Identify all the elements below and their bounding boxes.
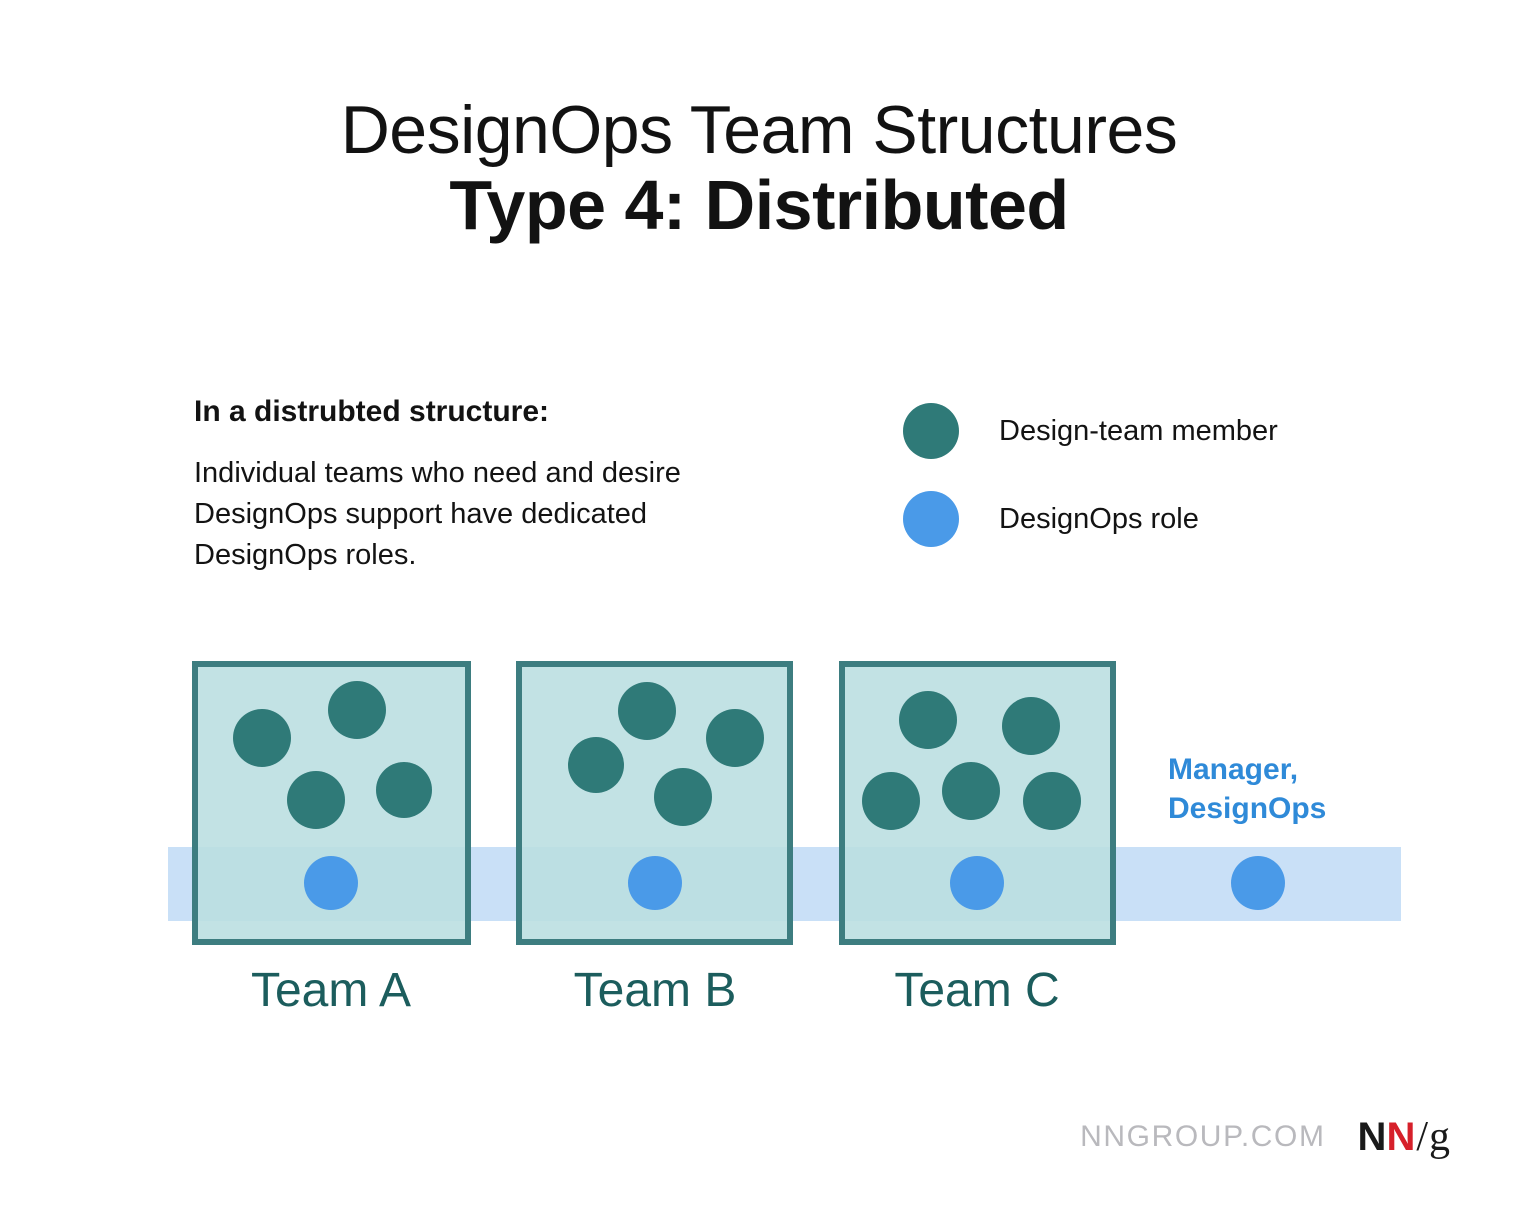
logo-slash: / bbox=[1416, 1116, 1428, 1158]
logo-n-black: N bbox=[1358, 1117, 1387, 1157]
circle-icon bbox=[903, 403, 959, 459]
legend-label: Design-team member bbox=[999, 415, 1278, 448]
design-team-member-dot bbox=[287, 771, 345, 829]
description-block: In a distrubted structure: Individual te… bbox=[194, 393, 794, 576]
design-team-member-dot bbox=[233, 709, 291, 767]
design-team-member-dot bbox=[1023, 772, 1081, 830]
manager-designops-label: Manager, DesignOps bbox=[1168, 750, 1398, 828]
page-title: DesignOps Team Structures bbox=[0, 96, 1518, 164]
legend-item-designops-role: DesignOps role bbox=[903, 488, 1278, 550]
title-block: DesignOps Team Structures Type 4: Distri… bbox=[0, 96, 1518, 247]
design-team-member-dot bbox=[706, 709, 764, 767]
design-team-member-dot bbox=[654, 768, 712, 826]
description-body: Individual teams who need and desire Des… bbox=[194, 453, 794, 577]
team-label-a: Team A bbox=[181, 963, 481, 1018]
design-team-member-dot bbox=[568, 737, 624, 793]
manager-designops-dot bbox=[1231, 856, 1285, 910]
designops-role-dot bbox=[950, 856, 1004, 910]
designops-role-dot bbox=[304, 856, 358, 910]
legend-label: DesignOps role bbox=[999, 503, 1199, 536]
footer-url: NNGROUP.COM bbox=[1080, 1120, 1325, 1154]
design-team-member-dot bbox=[899, 691, 957, 749]
team-label-c: Team C bbox=[827, 963, 1127, 1018]
description-heading: In a distrubted structure: bbox=[194, 393, 794, 431]
logo-g: g bbox=[1429, 1116, 1450, 1158]
footer: NNGROUP.COM NN/g bbox=[1080, 1116, 1450, 1158]
logo-n-red: N bbox=[1386, 1117, 1415, 1157]
page-subtitle: Type 4: Distributed bbox=[0, 164, 1518, 247]
design-team-member-dot bbox=[618, 682, 676, 740]
legend-item-design-team-member: Design-team member bbox=[903, 400, 1278, 462]
legend: Design-team member DesignOps role bbox=[903, 400, 1278, 576]
design-team-member-dot bbox=[1002, 697, 1060, 755]
diagram-canvas: DesignOps Team Structures Type 4: Distri… bbox=[0, 0, 1518, 1216]
nng-logo: NN/g bbox=[1358, 1116, 1450, 1158]
design-team-member-dot bbox=[328, 681, 386, 739]
designops-role-dot bbox=[628, 856, 682, 910]
team-label-b: Team B bbox=[505, 963, 805, 1018]
circle-icon bbox=[903, 491, 959, 547]
design-team-member-dot bbox=[942, 762, 1000, 820]
design-team-member-dot bbox=[862, 772, 920, 830]
design-team-member-dot bbox=[376, 762, 432, 818]
